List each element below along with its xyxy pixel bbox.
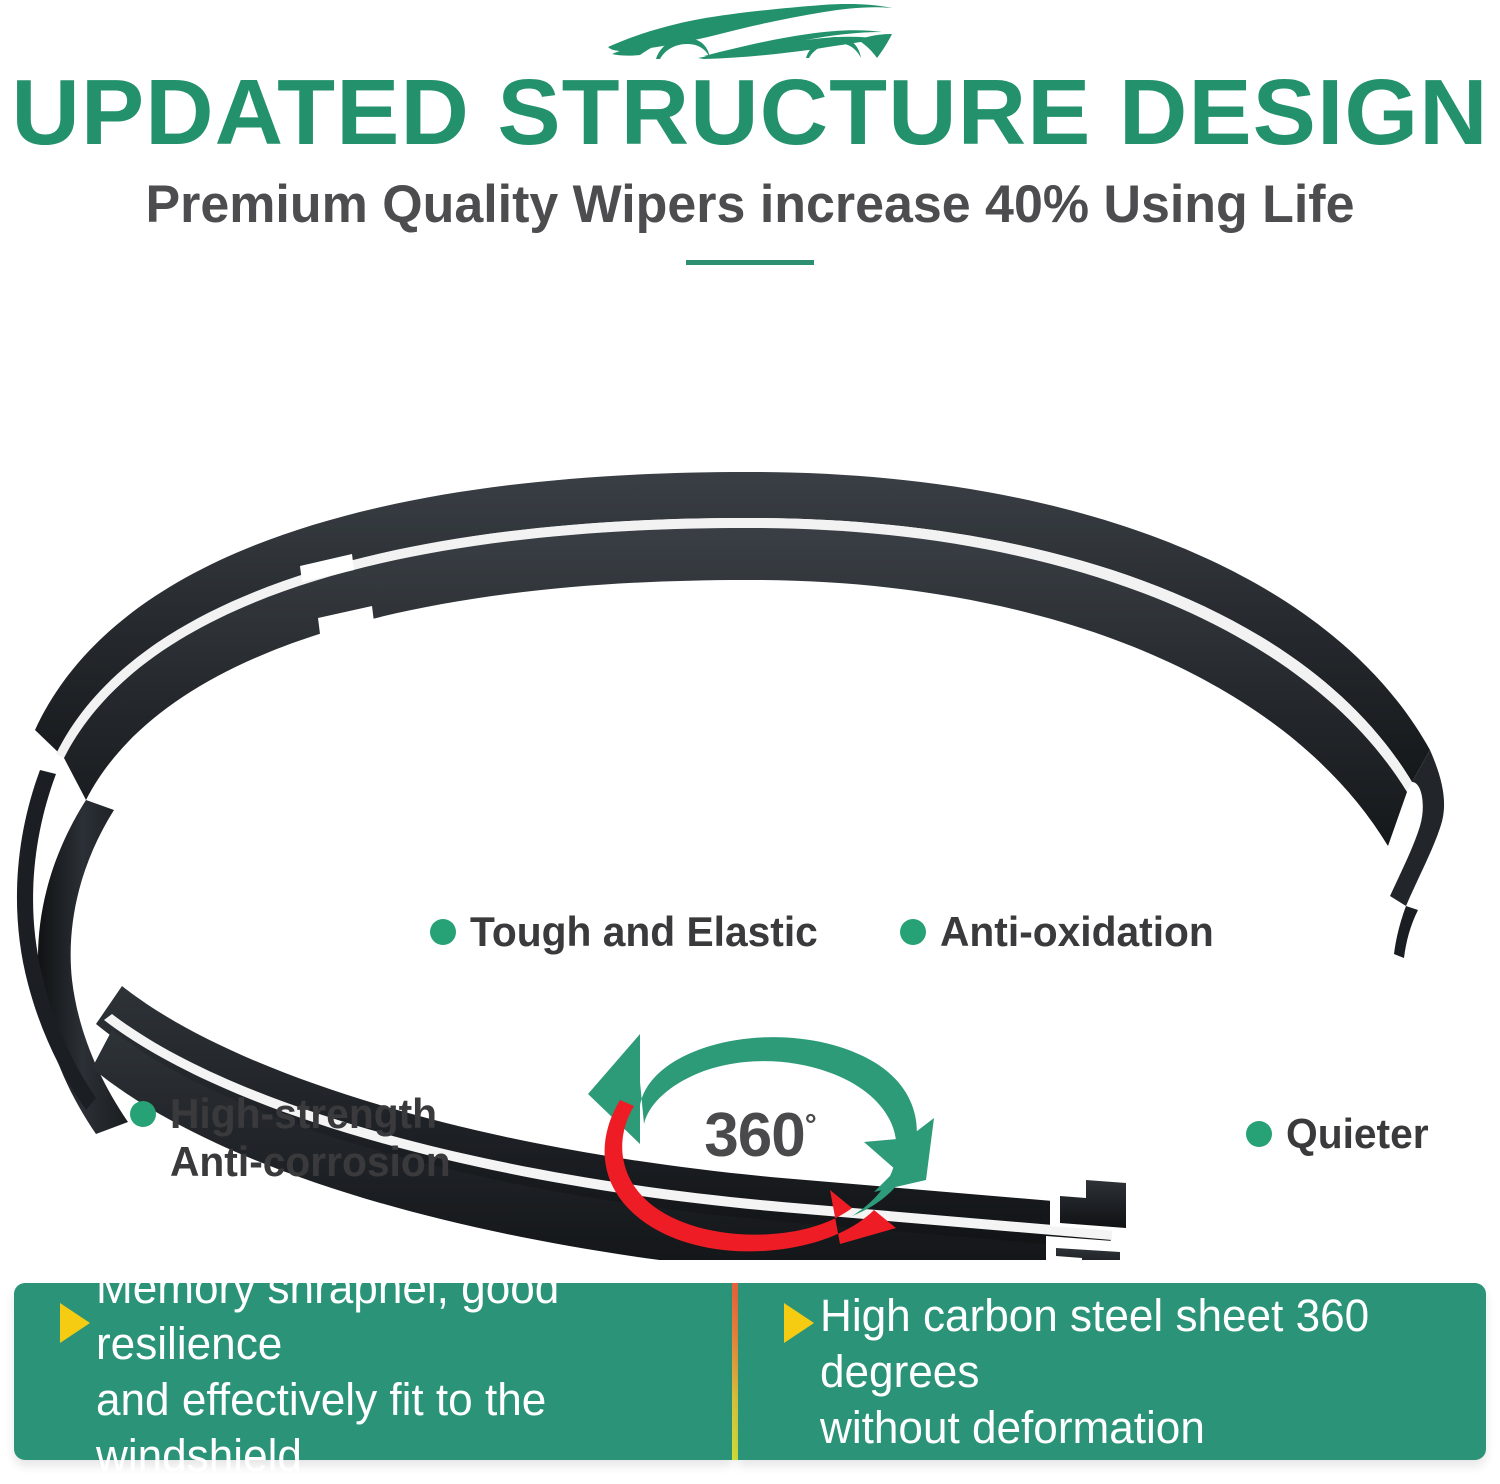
banner-memory-shrapnel: Memory shrapnel, good resilience and eff… bbox=[14, 1283, 732, 1460]
banner-text-wrapper: High carbon steel sheet 360 degrees with… bbox=[820, 1288, 1468, 1456]
banner-line2: and effectively fit to the windshield bbox=[96, 1372, 702, 1484]
feature-label-line1: High-strength bbox=[170, 1090, 451, 1138]
title-divider-rule bbox=[686, 260, 814, 265]
header: UPDATED STRUCTURE DESIGN Premium Quality… bbox=[0, 0, 1500, 265]
banner-line1: High carbon steel sheet 360 degrees bbox=[820, 1288, 1455, 1400]
car-silhouette-logo-icon bbox=[600, 2, 900, 64]
banner-line2: without deformation bbox=[820, 1400, 1455, 1456]
green-dot-icon bbox=[900, 919, 926, 945]
feature-anti-oxidation: Anti-oxidation bbox=[900, 908, 1222, 956]
feature-high-strength-anti-corrosion: High-strength Anti-corrosion bbox=[130, 1090, 459, 1186]
feature-label: Anti-oxidation bbox=[940, 908, 1214, 956]
feature-label: Quieter bbox=[1286, 1110, 1429, 1158]
banner-high-carbon-steel: High carbon steel sheet 360 degrees with… bbox=[738, 1283, 1486, 1460]
green-dot-icon bbox=[130, 1101, 156, 1127]
yellow-triangle-icon bbox=[784, 1303, 814, 1343]
yellow-triangle-icon bbox=[60, 1303, 90, 1343]
banner-line1: Memory shrapnel, good resilience bbox=[96, 1260, 702, 1372]
green-dot-icon bbox=[1246, 1121, 1272, 1147]
product-stage: Tough and Elastic Anti-oxidation High-st… bbox=[0, 330, 1500, 1260]
feature-quieter: Quieter bbox=[1246, 1110, 1433, 1158]
green-dot-icon bbox=[430, 919, 456, 945]
rotation-360-badge: 360° bbox=[578, 1022, 958, 1257]
bottom-banner-row: Memory shrapnel, good resilience and eff… bbox=[14, 1283, 1486, 1460]
rotation-arrows-360-icon bbox=[578, 1022, 958, 1257]
feature-label: Tough and Elastic bbox=[470, 908, 818, 956]
feature-label-line2: Anti-corrosion bbox=[170, 1138, 451, 1186]
feature-tough-and-elastic: Tough and Elastic bbox=[430, 908, 829, 956]
page-subtitle: Premium Quality Wipers increase 40% Usin… bbox=[15, 176, 1485, 234]
page-title: UPDATED STRUCTURE DESIGN bbox=[0, 64, 1500, 160]
banner-text-wrapper: Memory shrapnel, good resilience and eff… bbox=[96, 1260, 714, 1484]
